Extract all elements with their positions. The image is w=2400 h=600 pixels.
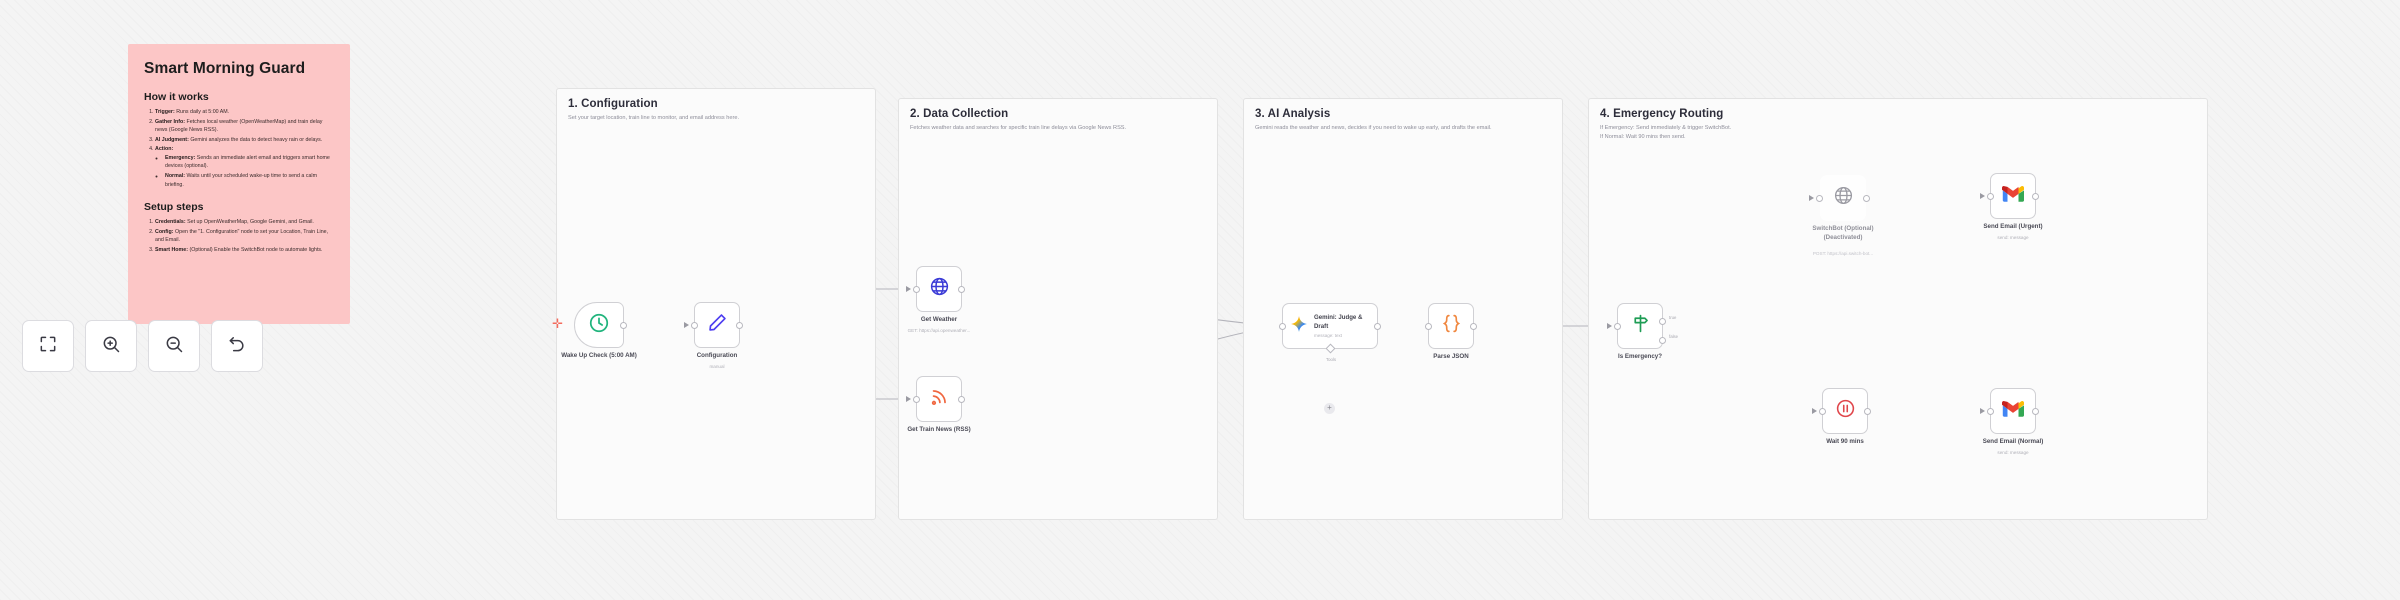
clock-icon [588,312,610,339]
list-item: Action: Emergency: Sends an immediate al… [155,145,336,189]
node-body[interactable] [1990,173,2036,219]
node-subtitle: message: text [1314,333,1372,338]
input-port[interactable] [691,322,698,329]
input-arrow-icon [906,396,911,402]
how-it-works-heading: How it works [144,91,336,103]
node-subtitle: send: message [1997,450,2028,455]
action-sublist: Emergency: Sends an immediate alert emai… [165,154,336,189]
input-port[interactable] [1425,323,1432,330]
output-port[interactable] [958,396,965,403]
input-port[interactable] [1819,408,1826,415]
input-port[interactable] [913,286,920,293]
input-arrow-icon [1607,323,1612,329]
node-label: Get Weather [921,316,957,323]
input-arrow-icon [1980,193,1985,199]
input-port[interactable] [1279,323,1286,330]
list-item: Config: Open the "1. Configuration" node… [155,228,336,245]
node-label: Wait 90 mins [1826,438,1864,445]
node-body[interactable] [1990,388,2036,434]
workflow-canvas[interactable]: Smart Morning Guard How it works Trigger… [0,0,2400,600]
node-parse-json[interactable]: Parse JSON [1428,303,1474,349]
node-body[interactable] [1822,388,1868,434]
node-label: Parse JSON [1433,353,1468,360]
panel-description: Set your target location, train line to … [557,110,875,123]
output-port[interactable] [1864,408,1871,415]
list-item: Emergency: Sends an immediate alert emai… [165,154,336,171]
panel-title: 1. Configuration [557,89,875,110]
node-is-emergency[interactable]: true false Is Emergency? [1617,303,1663,349]
input-port[interactable] [913,396,920,403]
node-get-train-news[interactable]: Get Train News (RSS) [916,376,962,422]
node-body[interactable] [916,266,962,312]
output-port[interactable] [1863,195,1870,202]
node-subtitle: send: message [1997,235,2028,240]
output-port-true[interactable] [1659,318,1666,325]
node-send-email-normal[interactable]: Send Email (Normal) send: message [1990,388,2036,434]
node-label: Configuration [697,352,738,359]
list-item: Normal: Waits until your scheduled wake-… [165,172,336,189]
node-label: Is Emergency? [1618,353,1662,360]
zoom-in-icon [101,334,121,359]
node-body[interactable] [1428,303,1474,349]
list-item: Trigger: Runs daily at 5:00 AM. [155,108,336,117]
reset-button[interactable] [211,320,263,372]
list-item: Gather Info: Fetches local weather (Open… [155,118,336,135]
port-label-true: true [1669,315,1676,320]
node-subtitle: manual [709,364,724,369]
pencil-icon [707,312,728,338]
zoom-out-icon [164,334,184,359]
panel-description: Fetches weather data and searches for sp… [899,120,1217,133]
gemini-spark-icon [1290,315,1308,338]
input-port[interactable] [1614,323,1621,330]
node-subtitle: POST: https://api.switch-bot... [1813,251,1873,256]
globe-icon [929,276,950,302]
input-port[interactable] [1987,193,1994,200]
node-switchbot[interactable]: SwitchBot (Optional) (Deactivated) POST:… [1820,175,1866,221]
output-port[interactable] [736,322,743,329]
node-configuration[interactable]: Configuration manual [694,302,740,348]
zoom-out-button[interactable] [148,320,200,372]
setup-steps-heading: Setup steps [144,201,336,213]
list-item: Credentials: Set up OpenWeatherMap, Goog… [155,218,336,227]
node-body[interactable]: Gemini: Judge & Draft message: text [1282,303,1378,349]
node-label: Send Email (Normal) [1983,438,2044,445]
node-subtitle: GET: https://api.openweather... [908,328,971,333]
input-port[interactable] [1987,408,1994,415]
sticky-note[interactable]: Smart Morning Guard How it works Trigger… [128,44,350,324]
braces-icon [1441,313,1462,339]
output-port[interactable] [1374,323,1381,330]
pause-icon [1835,398,1856,424]
canvas-toolbar[interactable] [22,320,263,372]
signpost-icon [1630,313,1651,339]
node-label: Gemini: Judge & Draft [1314,314,1372,330]
how-it-works-list: Trigger: Runs daily at 5:00 AM. Gather I… [155,108,336,189]
node-body[interactable] [1617,303,1663,349]
node-wake-up-check[interactable]: ✛ Wake Up Check (5:00 AM) [574,302,624,348]
panel-title: 2. Data Collection [899,99,1217,120]
node-body[interactable] [1820,175,1866,221]
node-body[interactable] [916,376,962,422]
input-arrow-icon [684,322,689,328]
node-label: Send Email (Urgent) [1983,223,2042,230]
node-label: Wake Up Check (5:00 AM) [560,352,638,361]
input-arrow-icon [906,286,911,292]
panel-title: 4. Emergency Routing [1589,99,2207,120]
node-label: SwitchBot (Optional) (Deactivated) [1800,225,1886,243]
node-send-email-urgent[interactable]: Send Email (Urgent) send: message [1990,173,2036,219]
input-arrow-icon [1812,408,1817,414]
node-body[interactable] [694,302,740,348]
rss-icon [930,387,949,411]
undo-icon [227,334,247,359]
add-node-plus-icon[interactable]: ✛ [552,316,563,332]
setup-steps-list: Credentials: Set up OpenWeatherMap, Goog… [155,218,336,254]
output-port[interactable] [2032,193,2039,200]
gmail-icon [2002,400,2024,422]
input-port[interactable] [1816,195,1823,202]
input-arrow-icon [1980,408,1985,414]
list-item: Smart Home: (Optional) Enable the Switch… [155,246,336,255]
zoom-in-button[interactable] [85,320,137,372]
list-item: AI Judgment: Gemini analyzes the data to… [155,136,336,145]
output-port-false[interactable] [1659,337,1666,344]
panel-emergency-routing[interactable]: 4. Emergency Routing If Emergency: Send … [1588,98,2208,520]
panel-description: Gemini reads the weather and news, decid… [1244,120,1562,133]
node-gemini-judge-draft[interactable]: Gemini: Judge & Draft message: text Tool… [1282,303,1378,349]
output-port[interactable] [1470,323,1477,330]
panel-title: 3. AI Analysis [1244,99,1562,120]
node-wait-90-mins[interactable]: Wait 90 mins [1822,388,1868,434]
input-arrow-icon [1809,195,1814,201]
output-port[interactable] [2032,408,2039,415]
output-port[interactable] [620,322,627,329]
add-tool-plus-icon[interactable]: + [1324,403,1335,414]
fit-view-button[interactable] [22,320,74,372]
tools-port-label: Tools [1326,357,1336,362]
output-port[interactable] [958,286,965,293]
globe-icon [1833,185,1854,211]
node-get-weather[interactable]: Get Weather GET: https://api.openweather… [916,266,962,312]
sticky-title: Smart Morning Guard [144,60,336,78]
node-body[interactable] [574,302,624,348]
gmail-icon [2002,185,2024,207]
port-label-false: false [1669,334,1678,339]
panel-description: If Emergency: Send immediately & trigger… [1589,120,2207,142]
fit-screen-icon [38,334,58,359]
node-label: Get Train News (RSS) [907,426,970,433]
